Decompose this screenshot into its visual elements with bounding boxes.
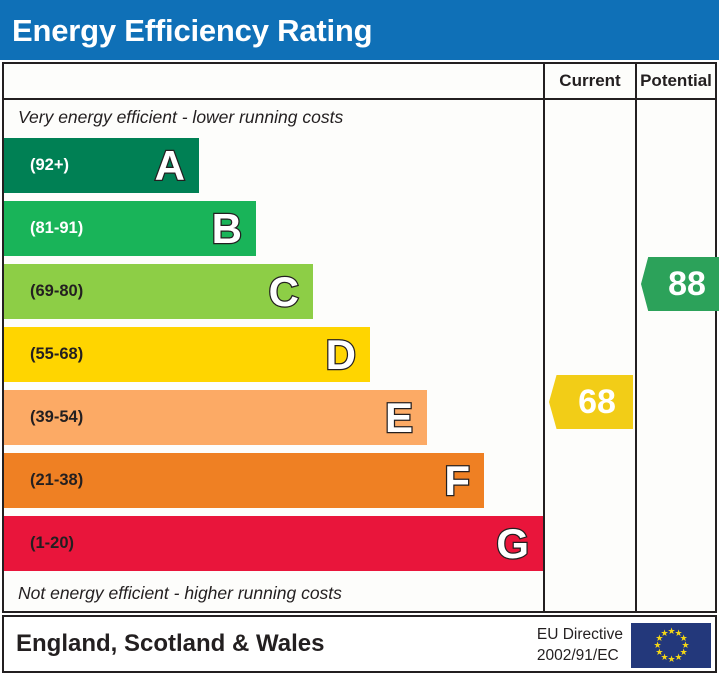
column-header-potential: Potential	[637, 64, 715, 98]
column-header-current: Current	[545, 64, 635, 98]
band-range-g: (1-20)	[4, 535, 74, 552]
column-divider-current	[543, 64, 545, 611]
caption-not-efficient: Not energy efficient - higher running co…	[4, 575, 541, 611]
column-divider-potential	[635, 64, 637, 611]
band-letter-e: E	[385, 397, 413, 439]
eu-star-icon: ★	[654, 642, 661, 649]
band-range-e: (39-54)	[4, 409, 83, 426]
band-row-g: (1-20)G	[4, 512, 543, 575]
potential-rating-value: 88	[668, 267, 706, 301]
band-bar-e: (39-54)E	[4, 390, 427, 445]
band-row-d: (55-68)D	[4, 323, 543, 386]
chart-title-bar: Energy Efficiency Rating	[0, 0, 719, 60]
band-letter-a: A	[155, 145, 185, 187]
band-bar-d: (55-68)D	[4, 327, 370, 382]
band-row-e: (39-54)E	[4, 386, 543, 449]
footer-directive-line2: 2002/91/EC	[537, 646, 623, 667]
band-letter-g: G	[496, 523, 529, 565]
footer-directive: EU Directive 2002/91/EC	[537, 625, 623, 667]
band-range-f: (21-38)	[4, 472, 83, 489]
current-rating-arrow: 68	[549, 375, 633, 429]
band-letter-d: D	[326, 334, 356, 376]
band-range-d: (55-68)	[4, 346, 83, 363]
band-row-a: (92+)A	[4, 134, 543, 197]
band-letter-c: C	[269, 271, 299, 313]
chart-footer: England, Scotland & Wales EU Directive 2…	[2, 615, 717, 673]
band-bar-c: (69-80)C	[4, 264, 313, 319]
eu-flag-icon: ★★★★★★★★★★★★	[631, 623, 711, 668]
potential-rating-arrow: 88	[641, 257, 719, 311]
band-bar-g: (1-20)G	[4, 516, 543, 571]
band-row-f: (21-38)F	[4, 449, 543, 512]
band-row-c: (69-80)C	[4, 260, 543, 323]
caption-very-efficient: Very energy efficient - lower running co…	[4, 100, 541, 134]
band-letter-f: F	[444, 460, 470, 502]
band-range-c: (69-80)	[4, 283, 83, 300]
page-title: Energy Efficiency Rating	[0, 15, 372, 46]
band-bar-f: (21-38)F	[4, 453, 484, 508]
eu-star-icon: ★	[661, 630, 668, 637]
band-range-a: (92+)	[4, 157, 69, 174]
band-bar-b: (81-91)B	[4, 201, 256, 256]
band-bars-container: (92+)A(81-91)B(69-80)C(55-68)D(39-54)E(2…	[4, 134, 543, 575]
footer-region-label: England, Scotland & Wales	[4, 631, 324, 657]
band-bar-a: (92+)A	[4, 138, 199, 193]
band-row-b: (81-91)B	[4, 197, 543, 260]
band-letter-b: B	[212, 208, 242, 250]
column-header-row: Current Potential	[4, 64, 715, 100]
eu-star-icon: ★	[655, 649, 662, 656]
band-range-b: (81-91)	[4, 220, 83, 237]
chart-body: Current Potential Very energy efficient …	[2, 62, 717, 613]
footer-directive-line1: EU Directive	[537, 625, 623, 646]
energy-efficiency-rating-chart: Energy Efficiency Rating Current Potenti…	[0, 0, 719, 675]
current-rating-value: 68	[578, 385, 616, 419]
